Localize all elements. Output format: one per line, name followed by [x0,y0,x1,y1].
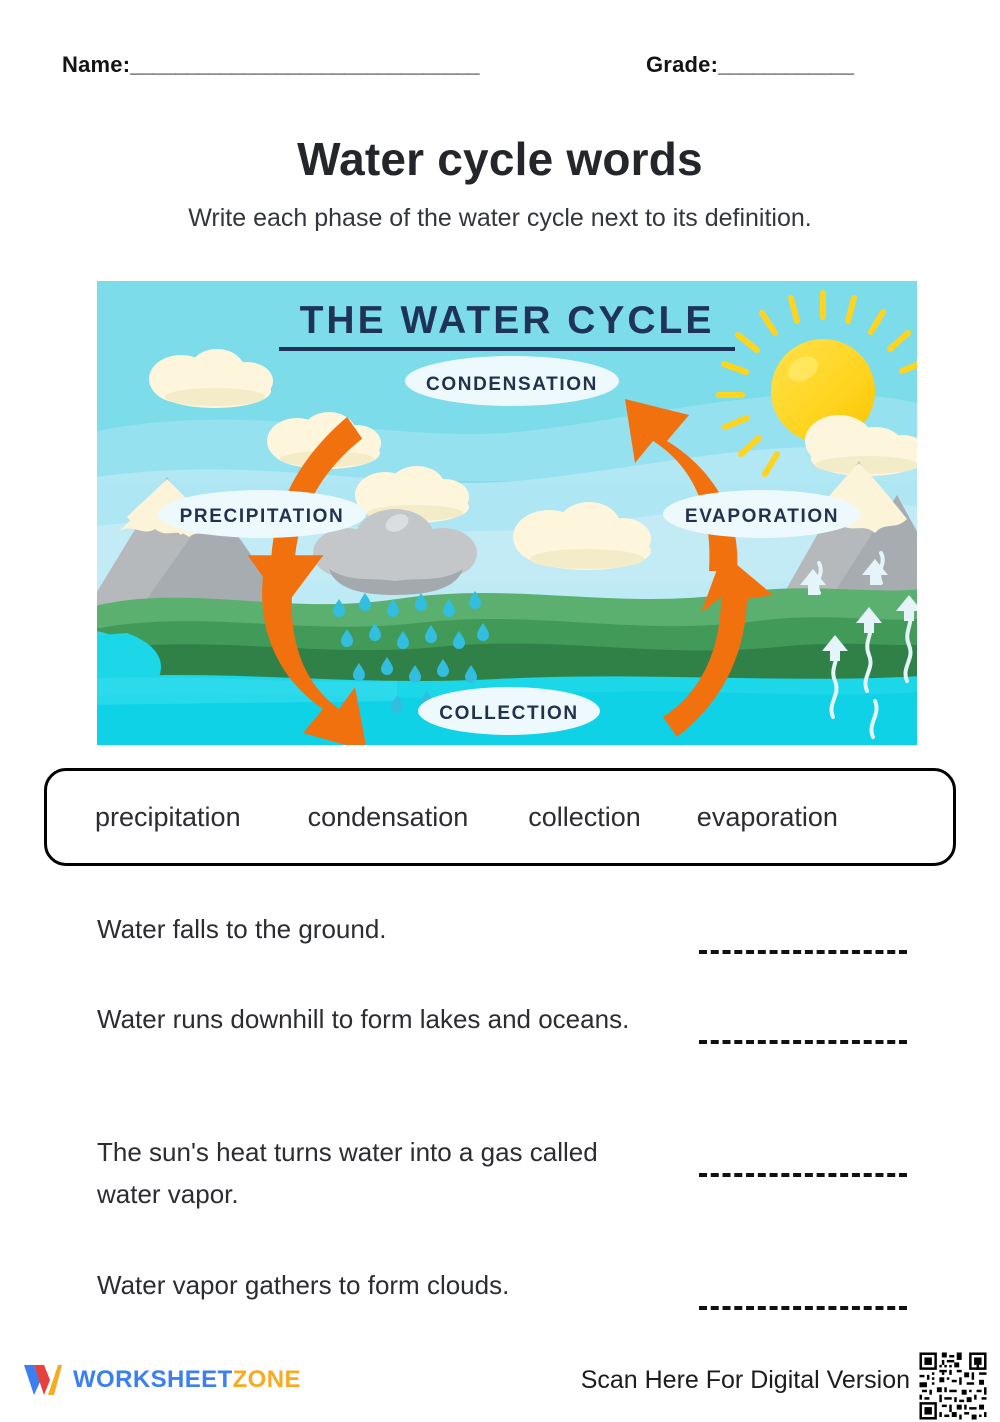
word-bank-item[interactable]: collection [528,802,641,833]
answer-line[interactable] [699,1040,907,1044]
logo-word-zone: ZONE [233,1366,301,1393]
logo-w-icon [22,1362,64,1398]
scan-instruction: Scan Here For Digital Version [581,1366,910,1395]
svg-text:EVAPORATION: EVAPORATION [685,506,839,527]
word-bank: precipitation condensation collection ev… [44,768,956,866]
water-cycle-illustration: THE WATER CYCLE CONDENSATION PRECIPITATI… [97,281,917,745]
label-precipitation: PRECIPITATION [158,490,366,538]
answer-line[interactable] [699,1173,907,1177]
answer-line[interactable] [699,950,907,954]
svg-text:CONDENSATION: CONDENSATION [426,374,598,395]
svg-text:PRECIPITATION: PRECIPITATION [180,506,345,527]
label-condensation: CONDENSATION [405,356,619,406]
qr-code[interactable] [914,1350,992,1422]
definition-text: Water vapor gathers to form clouds. [97,1264,657,1306]
page-footer: WORKSHEETZONE Scan Here For Digital Vers… [0,1348,1000,1414]
answer-line[interactable] [699,1306,907,1310]
worksheet-header: Name:_______________________________ Gra… [0,52,1000,92]
label-evaporation: EVAPORATION [663,490,861,538]
grade-label: Grade: [646,52,718,77]
word-bank-item[interactable]: precipitation [95,802,241,833]
grade-rule: ____________ [718,52,853,77]
worksheet-zone-logo[interactable]: WORKSHEETZONE [22,1362,301,1398]
logo-wordmark: WORKSHEETZONE [73,1366,301,1394]
name-label: Name: [62,52,130,77]
definition-text: Water falls to the ground. [97,908,657,950]
name-field[interactable]: Name:_______________________________ [62,52,479,78]
logo-word-worksheet: WORKSHEET [73,1366,233,1393]
diagram-title: THE WATER CYCLE [300,299,715,342]
svg-text:COLLECTION: COLLECTION [439,703,579,724]
page-subtitle: Write each phase of the water cycle next… [0,204,1000,233]
name-rule: _______________________________ [130,52,478,77]
word-bank-item[interactable]: evaporation [697,802,838,833]
page-title: Water cycle words [0,132,1000,186]
definition-text: The sun's heat turns water into a gas ca… [97,1131,657,1215]
word-bank-item[interactable]: condensation [308,802,469,833]
label-collection: COLLECTION [418,687,600,735]
definition-text: Water runs downhill to form lakes and oc… [97,998,657,1040]
grade-field[interactable]: Grade:____________ [646,52,853,78]
